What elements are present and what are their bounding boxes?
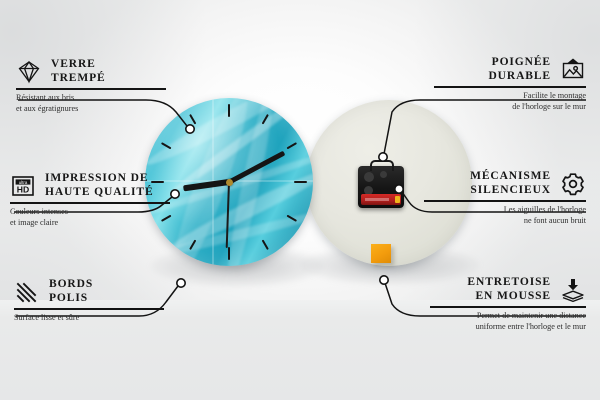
callout-header: BORDS POLIS (14, 278, 164, 305)
hour-tick (294, 181, 307, 183)
callout-rule (10, 202, 170, 204)
front-clock (145, 98, 313, 266)
callout-header: ENTRETOISE EN MOUSSE (430, 276, 586, 303)
diagonal-lines-icon (14, 279, 40, 305)
callout-header: VERRE TREMPÉ (16, 58, 166, 85)
callout-rule (434, 86, 586, 88)
callout-header: POIGNÉE DURABLE (434, 56, 586, 83)
ultra-hd-badge-icon: ultra HD (10, 173, 36, 199)
hour-tick (287, 142, 298, 149)
callout-description: Facilite le montage de l'horloge sur le … (434, 91, 586, 112)
battery-terminal (395, 196, 400, 203)
callout-rule (14, 308, 164, 310)
callout-title: IMPRESSION DE HAUTE QUALITÉ (45, 172, 154, 199)
battery-label (365, 198, 389, 201)
callout-header: ultra HD IMPRESSION DE HAUTE QUALITÉ (10, 172, 170, 199)
hour-tick (228, 247, 230, 260)
callout-title: POIGNÉE DURABLE (488, 56, 551, 83)
hanging-picture-frame-icon (560, 57, 586, 83)
callout-rule (16, 88, 166, 90)
callout-description: Les aiguilles de l'horloge ne font aucun… (424, 205, 586, 226)
foam-spacer (371, 244, 391, 263)
gear-icon (560, 171, 586, 197)
callout-description: Résistant aux bris et aux égratignures (16, 93, 166, 114)
callout-verre-trempe: VERRE TREMPÉ Résistant aux bris et aux é… (16, 58, 166, 114)
diamond-icon (16, 59, 42, 85)
hands-center-cap (226, 179, 233, 186)
callout-rule (430, 306, 586, 308)
aa-battery (361, 194, 401, 205)
arrow-onto-stack-icon (560, 277, 586, 303)
clock-dial (145, 98, 313, 266)
callout-description: Couleurs intenses et image claire (10, 207, 170, 228)
callout-title: MÉCANISME SILENCIEUX (470, 170, 551, 197)
callout-title: BORDS POLIS (49, 278, 93, 305)
callout-title: VERRE TREMPÉ (51, 58, 106, 85)
hour-tick (189, 114, 196, 125)
hanging-hook-icon (370, 160, 394, 171)
mechanism-dial-1 (364, 172, 374, 182)
callout-description: Permet de maintenir une distance uniform… (430, 311, 586, 332)
callout-mecanisme-silencieux: MÉCANISME SILENCIEUX Les aiguilles de l'… (424, 170, 586, 226)
callout-rule (424, 200, 586, 202)
callout-title: ENTRETOISE EN MOUSSE (467, 276, 551, 303)
hour-tick (262, 240, 269, 251)
callout-poignee-durable: POIGNÉE DURABLE Facilite le montage de l… (434, 56, 586, 112)
clock-mechanism (358, 166, 404, 208)
callout-entretoise-en-mousse: ENTRETOISE EN MOUSSE Permet de maintenir… (430, 276, 586, 332)
callout-description: Surface lisse et sûre (14, 313, 164, 324)
infographic-canvas: VERRE TREMPÉ Résistant aux bris et aux é… (0, 0, 600, 400)
callout-header: MÉCANISME SILENCIEUX (424, 170, 586, 197)
svg-text:HD: HD (17, 184, 29, 194)
callout-bords-polis: BORDS POLIS Surface lisse et sûre (14, 278, 164, 324)
hour-tick (228, 104, 230, 117)
mechanism-dial-3 (380, 171, 387, 178)
callout-impression-haute-qualite: ultra HD IMPRESSION DE HAUTE QUALITÉ Cou… (10, 172, 170, 228)
